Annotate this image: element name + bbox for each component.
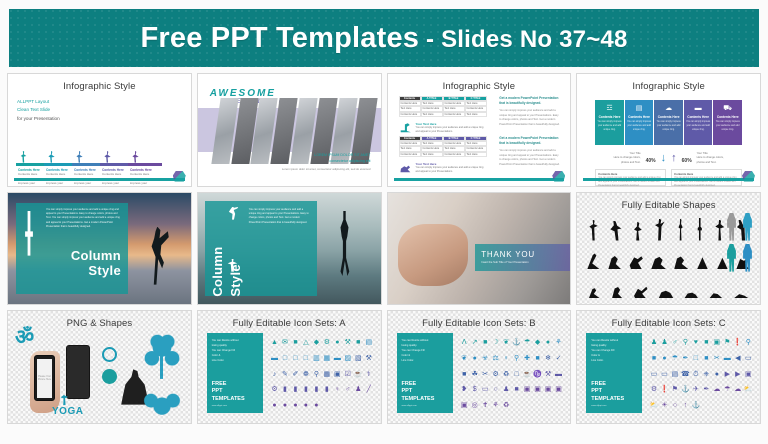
slide-11-icon-grid: Λ↗■☽❦⚓☂◆●⚘❦●☣⚖♀⚲✚■❄✓■☘✂⚙♻□☕♑⚒▬❥$▭○♟■▣▣▣▣… — [460, 335, 564, 413]
icon-28: ♑ — [533, 371, 542, 378]
stat-1-unit: % — [651, 158, 655, 164]
panel-top-text: You can Resize without losing quality. Y… — [212, 339, 258, 364]
icon-40: ▣ — [555, 386, 562, 393]
column-5: ⛟ Contents Here You can simply impress y… — [713, 100, 742, 145]
table-row: Contents Here Text Here Contents Here Te… — [399, 152, 487, 157]
banner-title-sub: - Slides No 37~48 — [419, 26, 627, 53]
icon-29: ☕ — [354, 371, 363, 378]
column-body: You can simply impress your audience and… — [625, 121, 654, 133]
panel-top-text: You can Resize without losing quality. Y… — [402, 339, 448, 364]
icon-8: ⚑ — [724, 339, 730, 346]
icon-31: ❥ — [461, 386, 467, 393]
phone-in-hand: Please Your Picture Here — [34, 355, 55, 401]
column-heading: Contents Here — [628, 115, 650, 119]
icon-45: ♻ — [503, 402, 509, 409]
slide-6-text-panel: Column Style You can simply impress your… — [205, 201, 317, 297]
icon-44: ⚘ — [493, 402, 499, 409]
slide-thumbnail-11[interactable]: Fully Editable Icon Sets: B You can Resi… — [387, 310, 572, 424]
header-banner: Free PPT Templates - Slides No 37~48 — [9, 9, 759, 67]
stat-1-value: 40% — [646, 153, 656, 165]
note-body: You can simply impress your audience and… — [416, 126, 488, 134]
book-icon: ▤ — [635, 104, 644, 112]
icon-2: ↗ — [472, 339, 478, 346]
slide-12-title: Fully Editable Icon Sets: C — [577, 311, 760, 329]
icon-20: ✓ — [556, 355, 562, 362]
icon-3: ■ — [293, 339, 297, 346]
slide-4-stats: Your Title Here to change colors, photos… — [595, 150, 742, 167]
box-title: Contents Here — [674, 172, 739, 176]
arrow-down-icon: ↓ — [661, 153, 667, 164]
slide-thumbnail-3[interactable]: Infographic Style Contents A TITLE B TIT… — [387, 73, 572, 187]
slide-thumbnail-6[interactable]: Column Style You can simply impress your… — [197, 192, 382, 306]
slide-thumbnail-5[interactable]: You can simply impress your audience and… — [7, 192, 192, 306]
side-body: You can simply impress your audience and… — [499, 149, 561, 167]
icon-26: ▦ — [324, 371, 331, 378]
icon-11: ■ — [652, 355, 656, 362]
icon-29: ⚒ — [545, 371, 551, 378]
icon-34: ○ — [494, 386, 498, 393]
icon-29: ▶ — [735, 371, 740, 378]
panel-free-text: FREE PPT TEMPLATES — [212, 381, 258, 403]
yoga-pose-shape — [632, 222, 643, 241]
icon-37: ▣ — [524, 386, 531, 393]
slide-7-thank-you-band: THANK YOU Insert the Sub Title of Your P… — [475, 244, 570, 271]
icon-24: ⚙ — [493, 371, 499, 378]
icon-16: ⚲ — [514, 355, 519, 362]
card-icon: ▬ — [694, 104, 703, 112]
panel-top-text: You can Resize without losing quality. Y… — [591, 339, 637, 364]
icon-45: ● — [314, 402, 318, 409]
icon-1: ♟ — [651, 339, 657, 346]
icon-22: ☘ — [472, 371, 478, 378]
yoga-figure-icon — [20, 151, 27, 163]
side-heading: Get a modern PowerPoint Presentation tha… — [499, 96, 561, 106]
slide-4-columns: ☲ Contents Here You can simply impress y… — [595, 100, 742, 145]
icon-6: ⚓ — [512, 339, 521, 346]
column-heading: Contents Here — [687, 115, 709, 119]
yoga-pose-shape — [588, 220, 599, 241]
icon-9: ■ — [356, 339, 360, 346]
car-icon: ⛟ — [723, 104, 732, 112]
column-1: ☲ Contents Here You can simply impress y… — [595, 100, 624, 145]
icon-15: ▥ — [313, 355, 320, 362]
icon-14: ⚖ — [493, 355, 499, 362]
icon-39: ♟ — [355, 386, 361, 393]
icon-8: ⚒ — [345, 339, 351, 346]
icon-10: ⚲ — [746, 339, 751, 346]
slide-6-body: You can simply impress your audience and… — [249, 208, 311, 226]
icon-40: ╱ — [367, 386, 371, 393]
icon-14: ✒ — [682, 355, 688, 362]
panel-url: www.allppt.com — [591, 405, 637, 407]
panel-url: www.allppt.com — [212, 405, 258, 407]
icon-42: ◎ — [472, 402, 478, 409]
icon-33: ⚑ — [672, 386, 678, 393]
icon-13: ☣ — [482, 355, 488, 362]
icon-17: ✂ — [714, 355, 720, 362]
icon-27: ▣ — [334, 371, 341, 378]
icon-39: ▣ — [545, 386, 552, 393]
side-heading: Get a modern PowerPoint Presentation tha… — [499, 136, 561, 146]
icon-41: ● — [272, 402, 276, 409]
icon-27: ● — [715, 371, 719, 378]
icon-9: ● — [546, 339, 550, 346]
icon-22: ▭ — [661, 371, 668, 378]
slide-thumbnail-1[interactable]: Infographic Style ALLPPT Layout Clean Te… — [7, 73, 192, 187]
icon-38: ♂ — [345, 386, 350, 393]
person-figure-icon — [725, 244, 738, 272]
icon-40: ⛅ — [744, 386, 753, 393]
icon-2: ✉ — [282, 339, 288, 346]
yoga-pose-shape — [684, 290, 699, 298]
icon-12: □ — [283, 355, 287, 362]
slide-11-free-panel: You can Resize without losing quality. Y… — [397, 333, 453, 413]
icon-8: ◆ — [535, 339, 540, 346]
icon-31: ⚙ — [271, 386, 277, 393]
icon-25: ⏱ — [693, 371, 698, 378]
icon-5: ❦ — [503, 339, 509, 346]
column-heading: Contents Here — [717, 115, 739, 119]
icon-1: ▲ — [271, 339, 278, 346]
allppt-logo-icon — [552, 171, 565, 182]
icon-28: ▶ — [725, 371, 730, 378]
icon-35: ♟ — [503, 386, 509, 393]
slide-5-title-line-1: Column — [71, 248, 121, 263]
icon-12: ● — [662, 355, 666, 362]
icon-33: ▭ — [482, 386, 489, 393]
stat-2-unit: % — [687, 158, 691, 164]
slide-3-title: Infographic Style — [388, 74, 571, 92]
icon-24: ☎ — [681, 371, 690, 378]
icon-28: ☑ — [345, 371, 351, 378]
icon-19: ◀ — [735, 355, 740, 362]
yoga-pose-shape — [696, 256, 709, 269]
cell: Contents Here — [399, 152, 421, 157]
icon-32: ▮ — [283, 386, 287, 393]
stat-2-value: 60% — [682, 153, 692, 165]
slide-3-side-block-2: Get a modern PowerPoint Presentation tha… — [499, 136, 561, 167]
hand-shape — [398, 224, 467, 287]
yoga-pose-shape — [609, 221, 622, 241]
pose-row-3 — [583, 272, 754, 298]
column-body: You can simply impress your audience and… — [713, 121, 742, 133]
icon-44: ● — [304, 402, 308, 409]
column-heading: Contents Here — [658, 115, 680, 119]
slide-12-free-panel: You can Resize without losing quality. Y… — [586, 333, 642, 413]
icon-4: △ — [303, 339, 308, 346]
icon-26: □ — [514, 371, 518, 378]
column-body: You can simply impress your audience and… — [595, 121, 624, 133]
icon-11: ❦ — [461, 355, 467, 362]
icon-7: ▣ — [714, 339, 721, 346]
panel-url: www.allppt.com — [402, 405, 448, 407]
icon-35: ▮ — [314, 386, 318, 393]
yoga-pose-shape — [673, 255, 689, 269]
icon-25: ⚲ — [314, 371, 319, 378]
icon-15: ♀ — [504, 355, 509, 362]
icon-24: ❁ — [303, 371, 309, 378]
yoga-figure-icon — [104, 151, 111, 163]
icon-17: ✚ — [524, 355, 530, 362]
slide-11-title: Fully Editable Icon Sets: B — [388, 311, 571, 329]
icon-2: ♟ — [661, 339, 667, 346]
yoga-pose-icon — [400, 122, 412, 134]
icon-13: □ — [293, 355, 297, 362]
slide-10-icon-grid: ▲✉■△◆⚙●⚒■▤▬□□□▥▦▬▨▧⚒♪✎✐❁⚲▦▣☑☕⚕⚙▮▮▮▮▮♀♂♟╱… — [270, 335, 374, 413]
icon-37: ♀ — [335, 386, 340, 393]
icon-41: ▣ — [461, 402, 468, 409]
yoga-pose-shape — [733, 292, 749, 298]
slide-2-caption: LOREM IPSUM DOLOR SIT AMET consectetur a… — [282, 152, 371, 172]
slide-2-caption-small: Lorem ipsum dolor sit amet, consectetur … — [282, 167, 371, 171]
yoga-pose-shape — [587, 253, 601, 269]
yoga-pose-shape — [633, 286, 648, 298]
icon-3: ♂ — [672, 339, 677, 346]
arrow-up-icon: ↑ — [671, 153, 677, 164]
slide-5-title-line-2: Style — [71, 263, 121, 278]
icon-18: ■ — [535, 355, 539, 362]
icon-44: ↑ — [684, 402, 688, 409]
cloud-icon: ☁ — [664, 104, 673, 112]
icon-5: ◆ — [314, 339, 319, 346]
slide-6-title: Column Style — [210, 246, 243, 296]
icon-4: ⚲ — [683, 339, 688, 346]
yoga-pose-shape — [611, 286, 624, 298]
icon-21: ♪ — [273, 371, 277, 378]
slide-2-caption-line-2: consectetur adipiscing elit — [282, 158, 371, 164]
icon-38: ▣ — [534, 386, 541, 393]
icon-25: ♻ — [503, 371, 509, 378]
column-2: ▤ Contents Here You can simply impress y… — [625, 100, 654, 145]
cell: Text Here — [465, 152, 487, 157]
slide-8-title: Fully Editable Shapes — [577, 193, 760, 211]
yoga-pose-icon — [400, 162, 412, 174]
yoga-figure-icon — [132, 151, 139, 163]
slide-thumbnail-4[interactable]: Infographic Style ☲ Contents Here You ca… — [576, 73, 761, 187]
cell: Text Here — [421, 152, 443, 157]
icon-10: ⚘ — [555, 339, 561, 346]
yoga-pose-shape — [696, 218, 704, 241]
yoga-pose-shape — [708, 290, 723, 298]
icon-17: ▬ — [334, 355, 341, 362]
cell: Text Here — [465, 112, 487, 117]
icon-38: ☂ — [724, 386, 730, 393]
yoga-figure-icon — [48, 151, 55, 163]
slide-thumbnail-12[interactable]: Fully Editable Icon Sets: C You can Resi… — [576, 310, 761, 424]
slide-3-note-2: Your Text Here You can simply impress yo… — [416, 162, 488, 174]
slide-footer-bar — [14, 178, 185, 181]
slide-10-title: Fully Editable Icon Sets: A — [198, 311, 381, 329]
phone-standalone — [66, 345, 90, 399]
icon-23: ✂ — [482, 371, 488, 378]
table-row: Contents Here Text Here Contents Here Te… — [399, 112, 487, 117]
cell: Contents Here — [443, 112, 465, 117]
icon-27: ☕ — [523, 371, 532, 378]
yoga-wordmark: YOGA — [52, 406, 83, 417]
icon-6: ■ — [704, 339, 708, 346]
tree-graphic — [139, 327, 185, 419]
banner-title-main: Free PPT Templates — [140, 22, 419, 54]
column-heading: Contents Here — [599, 115, 621, 119]
slide-5-figure-icon — [22, 211, 36, 256]
slide-thumbnail-2[interactable]: AWESOME PRESENTATION LOREM IPSUM DOLOR S… — [197, 73, 382, 187]
slide-thumbnail-8[interactable]: Fully Editable Shapes — [576, 192, 761, 306]
box-title: Contents Here — [598, 172, 663, 176]
icon-43: ● — [293, 402, 297, 409]
icon-16: ▦ — [324, 355, 331, 362]
yoga-pose-shape — [658, 288, 674, 298]
slide-4-title: Infographic Style — [577, 74, 760, 92]
icon-30: ▣ — [745, 371, 752, 378]
slide-grid: Infographic Style ALLPPT Layout Clean Te… — [0, 73, 768, 431]
allppt-logo-icon — [742, 171, 755, 182]
person-figure-icon — [741, 244, 754, 272]
slide-7-title: THANK YOU — [481, 250, 570, 259]
icon-6: ⚙ — [324, 339, 330, 346]
column-body: You can simply impress your audience and… — [654, 121, 683, 133]
icon-10: ▤ — [365, 339, 372, 346]
slide-5-body: You can simply impress your audience and… — [46, 208, 122, 230]
icon-33: ▮ — [294, 386, 298, 393]
icon-7: ● — [335, 339, 339, 346]
icon-43: ○ — [673, 402, 677, 409]
column-body: You can simply impress your audience and… — [684, 121, 713, 133]
icon-32: $ — [473, 386, 477, 393]
briefcase-icon: ☲ — [605, 104, 614, 112]
icon-35: ✈ — [693, 386, 699, 393]
column-3: ☁ Contents Here You can simply impress y… — [654, 100, 683, 145]
icon-15: □ — [694, 355, 698, 362]
icon-36: ✒ — [703, 386, 709, 393]
icon-34: ⚓ — [681, 386, 690, 393]
icon-30: ▬ — [555, 371, 562, 378]
side-body: You can simply impress your audience and… — [499, 109, 561, 127]
slide-8-person-figures — [725, 213, 754, 272]
icon-19: ▧ — [355, 355, 362, 362]
slide-1-staircase-chart: Contents Here Contents Here You can simp… — [16, 108, 183, 166]
column-4: ▬ Contents Here You can simply impress y… — [684, 100, 713, 145]
yoga-pose-shape — [651, 254, 667, 269]
slide-1-title: Infographic Style — [8, 74, 191, 92]
slide-6-figure-icon-1 — [227, 207, 239, 220]
person-figure-icon — [725, 213, 738, 241]
icon-13: ☂ — [672, 355, 678, 362]
cell: Text Here — [421, 112, 443, 117]
icon-14: □ — [304, 355, 308, 362]
slide-12-icon-grid: ♟♟♂⚲♥■▣⚑❗⚲■●☂✒□■✂▬◀▭▭▭▤☎⏱⎈●▶▶▣⚙❗⚑⚓✈✒☁☂☁⛅… — [649, 335, 753, 413]
icon-30: ⚕ — [367, 371, 371, 378]
slide-footer-bar — [394, 178, 565, 181]
icon-36: ▮ — [325, 386, 329, 393]
yoga-pose-shape — [607, 254, 622, 269]
icon-23: ▤ — [672, 371, 679, 378]
icon-43: ✝ — [482, 402, 488, 409]
slide-3-table-2: Contents A TITLE B TITLE C TITLE Content… — [399, 136, 487, 157]
icon-12: ● — [473, 355, 477, 362]
icon-7: ☂ — [524, 339, 530, 346]
icon-45: ⚓ — [692, 402, 701, 409]
icon-26: ⎈ — [704, 371, 710, 378]
slide-1-copy-line-1: ALLPPT Layout — [17, 98, 60, 106]
icon-3: ■ — [483, 339, 487, 346]
person-figure-icon — [741, 213, 754, 241]
yoga-figure-icon — [76, 151, 83, 163]
slide-footer-bar — [583, 178, 754, 181]
yoga-pose-shape — [588, 287, 601, 298]
icon-39: ☁ — [734, 386, 741, 393]
icon-9: ❗ — [733, 339, 742, 346]
panel-free-text: FREE PPT TEMPLATES — [591, 381, 637, 403]
icon-23: ✐ — [292, 371, 298, 378]
slide-3-side-block-1: Get a modern PowerPoint Presentation tha… — [499, 96, 561, 127]
icon-4: ☽ — [493, 339, 499, 346]
icon-42: ☀ — [661, 402, 667, 409]
slide-thumbnail-9[interactable]: PNG & Shapes ॐ Please Your Picture Here … — [7, 310, 192, 424]
icon-19: ❄ — [545, 355, 551, 362]
stat-2-label: Your Title Here to change colors, photos… — [697, 152, 725, 165]
icon-41: ⛅ — [650, 402, 659, 409]
slide-3-note-1: Your Text Here You can simply impress yo… — [416, 122, 488, 134]
icon-21: ▭ — [651, 371, 658, 378]
yoga-pose-shape — [629, 255, 644, 269]
icon-31: ⚙ — [651, 386, 657, 393]
icon-37: ☁ — [713, 386, 720, 393]
panel-free-text: FREE PPT TEMPLATES — [402, 381, 448, 403]
icon-36: ■ — [514, 386, 518, 393]
stat-1-label: Your Title Here to change colors, photos… — [613, 152, 641, 165]
page-title: Free PPT Templates - Slides No 37~48 — [140, 22, 627, 55]
om-symbol-icon: ॐ — [15, 327, 34, 348]
slide-3-table-1: Contents A TITLE B TITLE C TITLE Content… — [399, 96, 487, 117]
icon-1: Λ — [462, 339, 467, 346]
icon-42: ● — [283, 402, 287, 409]
yoga-pose-shape — [676, 219, 686, 241]
icon-20: ▭ — [745, 355, 752, 362]
icon-32: ❗ — [660, 386, 669, 393]
cell: Contents Here — [399, 112, 421, 117]
slide-10-free-panel: You can Resize without losing quality. Y… — [207, 333, 263, 413]
icon-21: ■ — [462, 371, 466, 378]
slide-thumbnail-10[interactable]: Fully Editable Icon Sets: A You can Resi… — [197, 310, 382, 424]
icon-22: ✎ — [282, 371, 288, 378]
slide-thumbnail-7[interactable]: THANK YOU Insert the Sub Title of Your P… — [387, 192, 572, 306]
icon-18: ▨ — [344, 355, 351, 362]
allppt-logo-icon — [173, 171, 186, 182]
note-body: You can simply impress your audience and… — [416, 166, 488, 174]
phone-screen-caption: Please Your Picture Here — [37, 375, 53, 381]
icon-11: ▬ — [271, 355, 278, 362]
slide-7-subtitle: Insert the Sub Title of Your Presentatio… — [481, 261, 570, 264]
icon-34: ▮ — [304, 386, 308, 393]
icon-18: ▬ — [724, 355, 731, 362]
yoga-pose-shape — [654, 219, 666, 241]
icon-16: ■ — [704, 355, 708, 362]
slide-5-text-panel: You can simply impress your audience and… — [16, 203, 128, 295]
icon-5: ♥ — [694, 339, 698, 346]
icon-20: ⚒ — [366, 355, 372, 362]
cell: Contents Here — [443, 152, 465, 157]
